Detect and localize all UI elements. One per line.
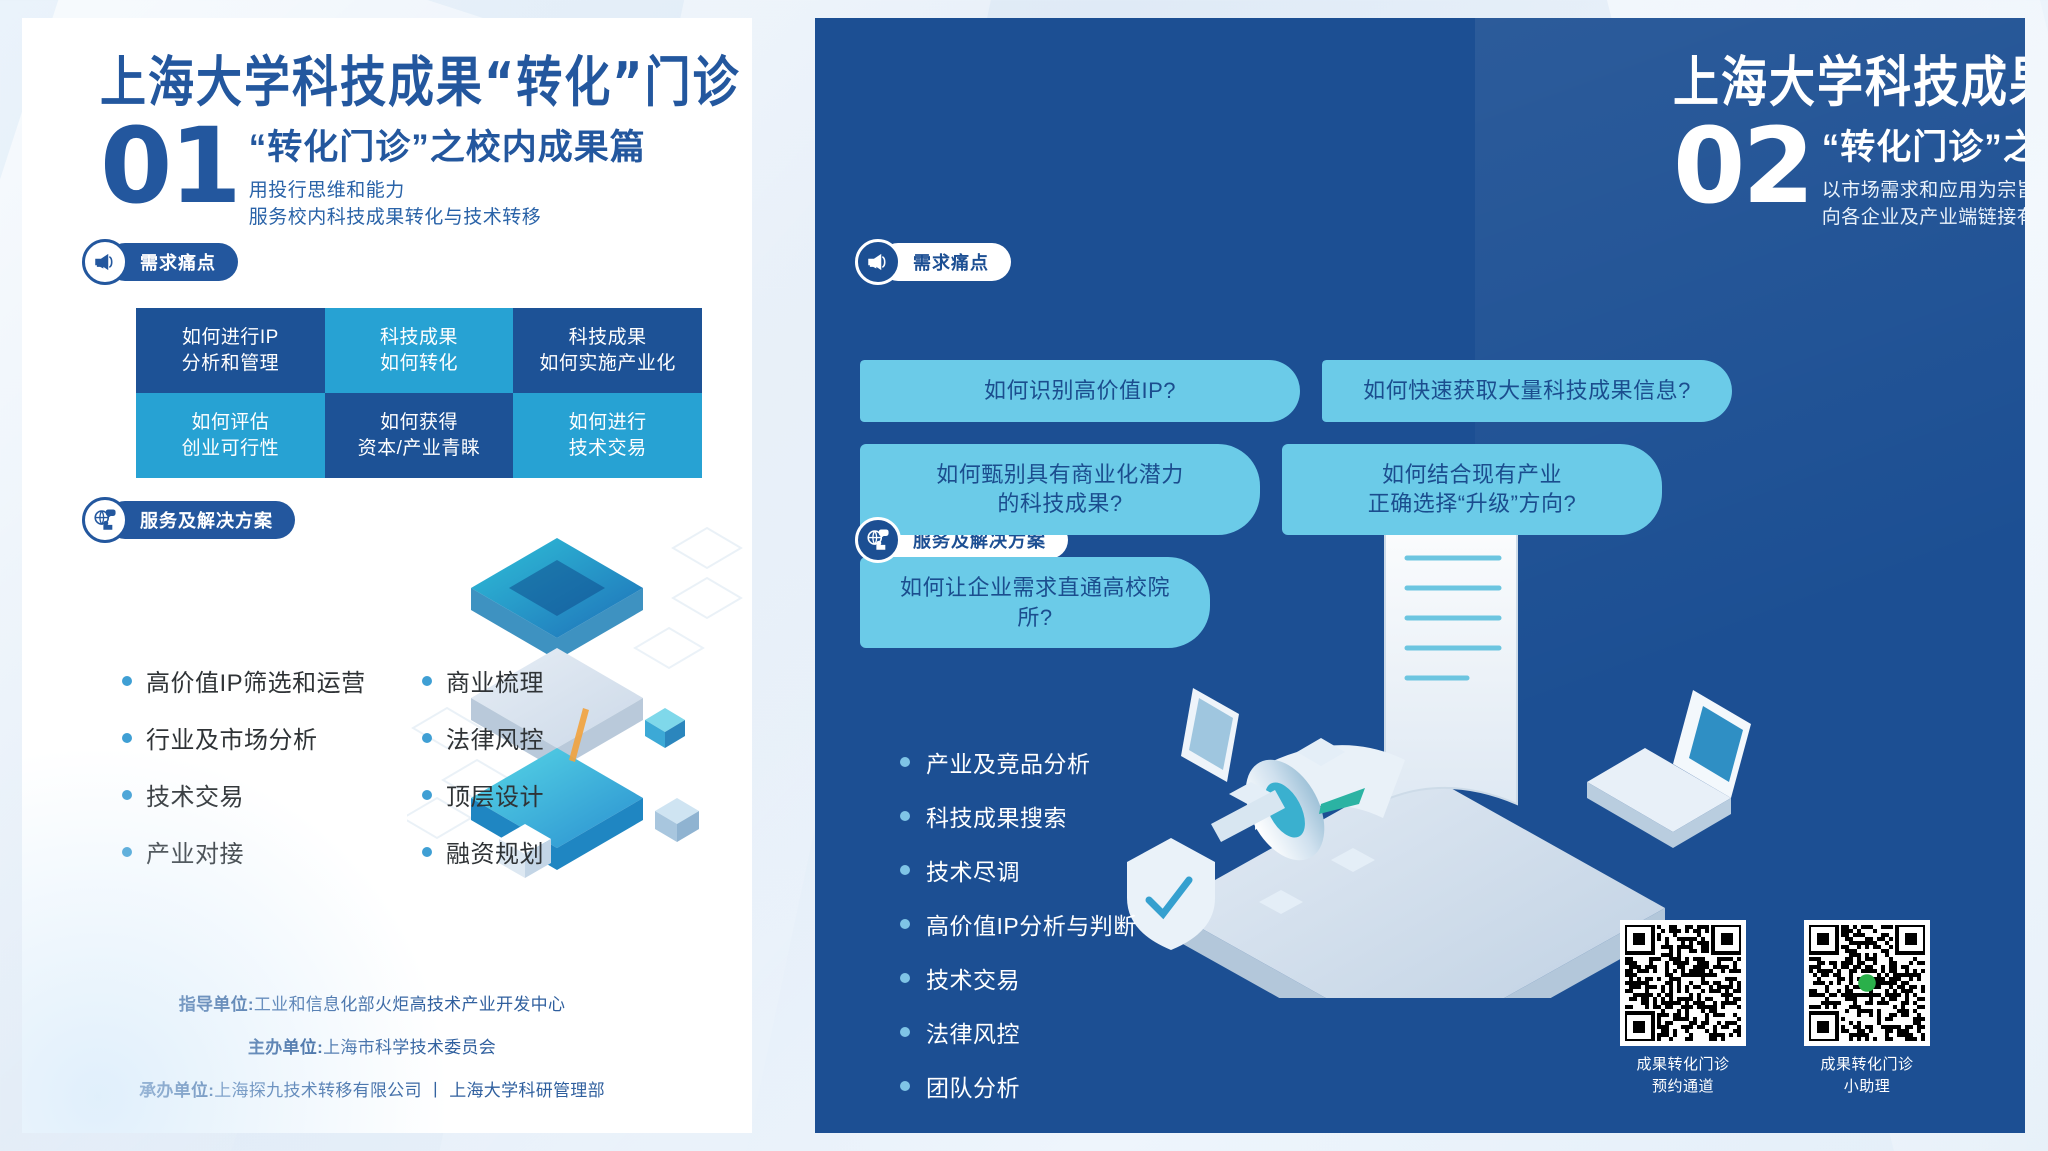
question-bubble-row: 如何识别高价值IP?如何快速获取大量科技成果信息? [860,360,1990,422]
left-service-item-label: 技术交易 [146,777,244,812]
bullet-dot-icon [900,1081,910,1091]
megaphone-chat-icon [855,239,901,285]
left-service-item: 行业及市场分析 [122,720,422,755]
panel-left-01: 上海大学科技成果“转化”门诊 01 “转化门诊”之校内成果篇 用投行思维和能力 … [22,18,752,1133]
left-tagline-line2: 服务校内科技成果转化与技术转移 [249,204,646,232]
left-service-item-label: 商业梳理 [446,663,544,698]
left-service-badge-label: 服务及解决方案 [106,501,295,539]
qr-caption-line2: 预约通道 [1620,1076,1746,1098]
left-service-item-label: 产业对接 [146,834,244,869]
right-service-item: 团队分析 [900,1069,1280,1103]
question-line2: 的科技成果? [936,489,1184,519]
qr-code-area: 成果转化门诊预约通道成果转化门诊小助理 [1620,920,1930,1098]
bullet-dot-icon [900,1027,910,1037]
pain-grid-cell: 科技成果如何转化 [325,308,514,393]
bullet-dot-icon [422,733,432,743]
left-service-item-label: 法律风控 [446,720,544,755]
qr-caption-line1: 成果转化门诊 [1620,1054,1746,1076]
left-service-column-2: 商业梳理法律风控顶层设计融资规划 [422,663,682,891]
bullet-dot-icon [422,790,432,800]
poster-stage: 上海大学科技成果“转化”门诊 01 “转化门诊”之校内成果篇 用投行思维和能力 … [0,0,2048,1151]
pain-grid-cell-line1: 如何评估 [191,410,269,436]
left-service-item: 产业对接 [122,834,422,869]
left-header: 上海大学科技成果“转化”门诊 01 “转化门诊”之校内成果篇 用投行思维和能力 … [100,54,740,232]
qr-caption: 成果转化门诊小助理 [1804,1054,1930,1098]
bullet-dot-icon [900,865,910,875]
right-service-item: 产业及竞品分析 [900,745,1280,779]
pain-grid-cell-line2: 资本/产业青睐 [358,436,481,462]
right-service-items: 产业及竞品分析科技成果搜索技术尽调高价值IP分析与判断技术交易法律风控团队分析 [900,745,1280,1103]
right-service-list: 产业及竞品分析科技成果搜索技术尽调高价值IP分析与判断技术交易法律风控团队分析 [900,745,1280,1123]
question-line1: 如何快速获取大量科技成果信息? [1363,376,1691,406]
question-bubble: 如何让企业需求直通高校院所? [860,557,1210,648]
credit-label: 承办单位: [139,1081,214,1100]
left-service-column-1: 高价值IP筛选和运营行业及市场分析技术交易产业对接 [122,663,422,891]
credit-line: 承办单位:上海探九技术转移有限公司 丨 上海大学科研管理部 [22,1076,722,1101]
pain-grid-cell-line2: 如何实施产业化 [539,351,676,377]
left-pain-badge: 需求痛点 [82,240,238,284]
left-section-number: 01 [100,124,239,209]
left-service-item: 技术交易 [122,777,422,812]
pain-grid-cell-line1: 科技成果 [380,325,458,351]
pain-grid-cell-line2: 创业可行性 [182,436,280,462]
qr-code-icon[interactable] [1804,920,1930,1046]
qr-caption: 成果转化门诊预约通道 [1620,1054,1746,1098]
bullet-dot-icon [900,973,910,983]
pain-grid-cell-line1: 科技成果 [569,325,647,351]
bubble-gap [1260,444,1282,535]
globe-hand-chat-icon [855,517,901,563]
bullet-dot-icon [122,676,132,686]
question-bubble: 如何甄别具有商业化潜力的科技成果? [860,444,1260,535]
qr-caption-line2: 小助理 [1804,1076,1930,1098]
right-service-item: 法律风控 [900,1015,1280,1049]
bullet-dot-icon [122,790,132,800]
pain-grid-cell: 如何评估创业可行性 [136,393,325,478]
left-service-item-label: 融资规划 [446,834,544,869]
megaphone-chat-icon [82,239,128,285]
right-service-item-label: 技术交易 [926,961,1020,995]
pain-grid-cell-line1: 如何获得 [380,410,458,436]
left-service-item: 高价值IP筛选和运营 [122,663,422,698]
qr-block[interactable]: 成果转化门诊小助理 [1804,920,1930,1098]
qr-caption-line1: 成果转化门诊 [1804,1054,1930,1076]
qr-block[interactable]: 成果转化门诊预约通道 [1620,920,1746,1098]
question-line1: 如何让企业需求直通高校院所? [886,573,1184,632]
left-subtitle-row: 01 “转化门诊”之校内成果篇 用投行思维和能力 服务校内科技成果转化与技术转移 [100,124,740,231]
question-bubble-text: 如何识别高价值IP? [984,376,1176,406]
pain-grid-cell: 如何进行IP分析和管理 [136,308,325,393]
question-bubble-text: 如何甄别具有商业化潜力的科技成果? [936,460,1184,519]
credit-line: 指导单位:工业和信息化部火炬高技术产业开发中心 [22,990,722,1015]
left-service-badge: 服务及解决方案 [82,498,295,542]
bullet-dot-icon [900,757,910,767]
question-bubble: 如何识别高价值IP? [860,360,1300,422]
question-bubble-text: 如何结合现有产业正确选择“升级”方向? [1368,460,1576,519]
left-credits: 指导单位:工业和信息化部火炬高技术产业开发中心主办单位:上海市科学技术委员会承办… [22,990,752,1119]
question-line1: 如何甄别具有商业化潜力 [936,460,1184,490]
right-section-number: 02 [1673,124,1812,209]
left-main-title: 上海大学科技成果“转化”门诊 [100,54,740,111]
right-service-item-label: 科技成果搜索 [926,799,1067,833]
left-service-item: 商业梳理 [422,663,682,698]
right-service-item-label: 产业及竞品分析 [926,745,1091,779]
left-service-lists: 高价值IP筛选和运营行业及市场分析技术交易产业对接 商业梳理法律风控顶层设计融资… [122,663,682,891]
right-tagline-line2: 向各企业及产业端链接有价值的科技成果 [1822,204,2025,232]
question-line2: 正确选择“升级”方向? [1368,489,1576,519]
credit-value: 工业和信息化部火炬高技术产业开发中心 [254,995,565,1014]
pain-grid-cell: 如何获得资本/产业青睐 [325,393,514,478]
left-pain-grid: 如何进行IP分析和管理科技成果如何转化科技成果如何实施产业化如何评估创业可行性如… [136,308,702,478]
pain-grid-cell-line1: 如何进行 [569,410,647,436]
credit-value: 上海市科学技术委员会 [323,1038,496,1057]
bullet-dot-icon [422,676,432,686]
bullet-dot-icon [122,847,132,857]
bubble-gap [1300,360,1322,422]
right-header: 上海大学科技成果“转化”门诊 02 “转化门诊”之科研初创企业篇 以市场需求和应… [1673,54,2025,232]
right-service-item: 技术交易 [900,961,1280,995]
right-service-item-label: 法律风控 [926,1015,1020,1049]
globe-hand-chat-icon [82,497,128,543]
right-service-item: 技术尽调 [900,853,1280,887]
right-tagline-line1: 以市场需求和应用为宗旨 [1822,177,2025,205]
right-question-bubbles: 如何识别高价值IP?如何快速获取大量科技成果信息?如何甄别具有商业化潜力的科技成… [860,360,1990,670]
question-line1: 如何识别高价值IP? [984,376,1176,406]
right-service-item-label: 团队分析 [926,1069,1020,1103]
right-sub-title: “转化门诊”之科研初创企业篇 [1822,128,2025,168]
question-line1: 如何结合现有产业 [1368,460,1576,490]
right-main-title: 上海大学科技成果“转化”门诊 [1673,54,2025,111]
left-service-item-label: 高价值IP筛选和运营 [146,663,366,698]
credit-label: 指导单位: [179,995,254,1014]
bullet-dot-icon [900,919,910,929]
left-service-item-label: 顶层设计 [446,777,544,812]
right-subtitle-row: 02 “转化门诊”之科研初创企业篇 以市场需求和应用为宗旨 向各企业及产业端链接… [1673,124,2025,231]
question-bubble: 如何快速获取大量科技成果信息? [1322,360,1732,422]
pain-grid-cell-line2: 分析和管理 [182,351,280,377]
question-bubble-row: 如何让企业需求直通高校院所? [860,557,1990,648]
pain-grid-cell-line2: 如何转化 [380,351,458,377]
bullet-dot-icon [900,811,910,821]
question-bubble: 如何结合现有产业正确选择“升级”方向? [1282,444,1662,535]
right-pain-badge: 需求痛点 [855,240,1011,284]
credit-value: 上海探九技术转移有限公司 丨 上海大学科研管理部 [214,1081,605,1100]
right-service-item-label: 技术尽调 [926,853,1020,887]
credit-label: 主办单位: [248,1038,323,1057]
left-sub-title: “转化门诊”之校内成果篇 [249,128,646,168]
bullet-dot-icon [422,847,432,857]
qr-code-icon[interactable] [1620,920,1746,1046]
right-service-item-label: 高价值IP分析与判断 [926,907,1137,941]
left-tagline-line1: 用投行思维和能力 [249,177,646,205]
pain-grid-cell: 科技成果如何实施产业化 [513,308,702,393]
left-service-item-label: 行业及市场分析 [146,720,318,755]
question-bubble-text: 如何快速获取大量科技成果信息? [1363,376,1691,406]
pain-grid-cell: 如何进行技术交易 [513,393,702,478]
pain-grid-cell-line2: 技术交易 [569,436,647,462]
left-service-item: 法律风控 [422,720,682,755]
question-bubble-text: 如何让企业需求直通高校院所? [886,573,1184,632]
right-service-item: 高价值IP分析与判断 [900,907,1280,941]
credit-line: 主办单位:上海市科学技术委员会 [22,1033,722,1058]
left-service-item: 融资规划 [422,834,682,869]
right-service-item: 科技成果搜索 [900,799,1280,833]
left-service-item: 顶层设计 [422,777,682,812]
question-bubble-row: 如何甄别具有商业化潜力的科技成果?如何结合现有产业正确选择“升级”方向? [860,444,1990,535]
bullet-dot-icon [122,733,132,743]
pain-grid-cell-line1: 如何进行IP [182,325,279,351]
